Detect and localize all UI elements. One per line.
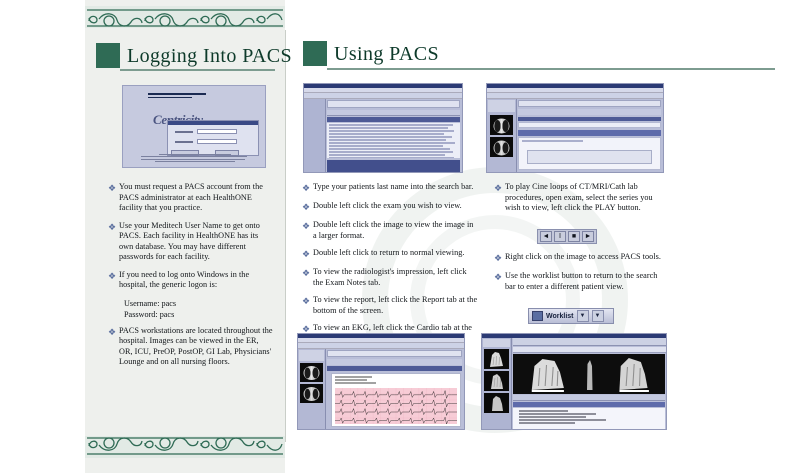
- ekg-tracing: [335, 388, 457, 424]
- list-item: ❖ You must request a PACS account from t…: [108, 182, 274, 214]
- section-header-using: Using PACS: [303, 41, 439, 66]
- page-title-logging: Logging Into PACS: [127, 46, 292, 68]
- patient-info-box: [483, 339, 510, 347]
- legal-text: [141, 154, 249, 163]
- worklist-table[interactable]: [327, 123, 460, 158]
- report-tab[interactable]: [513, 402, 665, 407]
- foot-xray-image-2[interactable]: [580, 354, 598, 394]
- username-value: Username: pacs: [124, 298, 274, 309]
- brochure-page: Logging Into PACS Centricity ❖ You must …: [0, 0, 800, 473]
- worklist-toolbar-button[interactable]: Worklist ▼ ▼: [528, 308, 614, 324]
- list-item: ❖ Double left click to return to normal …: [302, 248, 478, 260]
- diamond-bullet-icon: ❖: [494, 271, 505, 292]
- foot-xray-thumbnail[interactable]: [484, 349, 509, 369]
- chevron-down-icon[interactable]: ▼: [592, 310, 604, 322]
- viewer-toolbar[interactable]: [513, 338, 666, 346]
- previous-frame-button[interactable]: ◄: [540, 231, 552, 242]
- section-accent-square: [303, 41, 327, 66]
- diamond-bullet-icon: ❖: [108, 221, 119, 263]
- list-item: ❖ Use the worklist button to return to t…: [494, 271, 666, 292]
- list-item: ❖ PACS workstations are located througho…: [108, 326, 274, 368]
- foot-xray-thumbnail[interactable]: [484, 393, 509, 413]
- login-dialog-titlebar: [168, 121, 258, 125]
- foot-xray-screenshot: [481, 333, 667, 430]
- action-button-group[interactable]: [527, 150, 652, 164]
- worklist-icon: [532, 311, 543, 321]
- diamond-bullet-icon: ❖: [108, 270, 119, 291]
- tab-strip[interactable]: [327, 110, 460, 116]
- search-bar[interactable]: [327, 100, 460, 108]
- list-item: ❖ Double left click the image to view th…: [302, 220, 478, 241]
- stop-button[interactable]: ■: [568, 231, 580, 242]
- list-item: ❖ Right click on the image to access PAC…: [494, 252, 666, 264]
- foot-xray-image-1[interactable]: [513, 354, 580, 394]
- exam-notes-screenshot: [486, 83, 664, 173]
- username-field[interactable]: [197, 129, 237, 134]
- pause-button[interactable]: ‖: [554, 231, 566, 242]
- chest-xray-thumbnail[interactable]: [490, 115, 513, 135]
- search-bar[interactable]: [327, 350, 462, 357]
- diamond-bullet-icon: ❖: [302, 267, 313, 288]
- worklist-button-label: Worklist: [546, 313, 574, 320]
- diamond-bullet-icon: ❖: [302, 248, 313, 260]
- chevron-down-icon[interactable]: ▼: [577, 310, 589, 322]
- section-accent-square: [96, 43, 120, 68]
- password-field[interactable]: [197, 139, 237, 144]
- ge-logo: [148, 93, 214, 101]
- cine-playback-toolbar[interactable]: ◄ ‖ ■ ►: [537, 229, 597, 244]
- foot-xray-thumbnail[interactable]: [484, 371, 509, 391]
- bullet-list-using-right-2: ❖ Right click on the image to access PAC…: [494, 252, 666, 299]
- list-item: ❖ Type your patients last name into the …: [302, 182, 478, 194]
- diamond-bullet-icon: ❖: [302, 295, 313, 316]
- thumbnail-pane[interactable]: [482, 338, 512, 429]
- fold-divider: [285, 30, 286, 442]
- exam-row[interactable]: [518, 122, 661, 128]
- list-item: ❖ Double left click the exam you wish to…: [302, 201, 478, 213]
- list-item: ❖ Use your Meditech User Name to get ont…: [108, 221, 274, 263]
- diamond-bullet-icon: ❖: [302, 220, 313, 241]
- username-label: [175, 131, 193, 133]
- section-rule-using: [327, 68, 775, 70]
- password-value: Password: pacs: [124, 309, 274, 320]
- centricity-login-splash: Centricity: [122, 85, 266, 168]
- generic-logon-credentials: Username: pacs Password: pacs: [124, 298, 274, 320]
- exam-notes-tab[interactable]: [518, 130, 661, 136]
- section-rule-logging: [120, 69, 275, 71]
- play-button[interactable]: ►: [582, 231, 594, 242]
- diamond-bullet-icon: ❖: [494, 252, 505, 264]
- diamond-bullet-icon: ❖: [108, 182, 119, 214]
- thumbnail-pane[interactable]: [487, 99, 517, 172]
- foot-xray-image-3[interactable]: [598, 354, 665, 394]
- bullet-list-using-left: ❖ Type your patients last name into the …: [302, 182, 478, 351]
- section-header-logging: Logging Into PACS: [96, 43, 292, 68]
- report-pane: [513, 408, 665, 429]
- diamond-bullet-icon: ❖: [108, 326, 119, 368]
- tab-strip[interactable]: [327, 359, 462, 365]
- search-bar[interactable]: [518, 100, 661, 107]
- chest-xray-thumbnail[interactable]: [300, 384, 323, 403]
- tab-strip[interactable]: [518, 109, 661, 115]
- column-headers: [327, 117, 460, 122]
- list-item: ❖ To play Cine loops of CT/MRI/Cath lab …: [494, 182, 666, 214]
- patient-info-box: [488, 100, 515, 112]
- column-headers: [518, 117, 661, 121]
- tab-strip[interactable]: [513, 395, 665, 401]
- thumbnail-pane[interactable]: [298, 349, 326, 429]
- list-item: ❖ If you need to log onto Windows in the…: [108, 270, 274, 291]
- chest-xray-thumbnail[interactable]: [490, 137, 513, 157]
- chest-xray-thumbnail[interactable]: [300, 363, 323, 382]
- ekg-report-pane: [331, 373, 461, 427]
- diamond-bullet-icon: ❖: [302, 201, 313, 213]
- ekg-screenshot: [297, 333, 465, 430]
- page-title-using: Using PACS: [334, 44, 439, 66]
- left-nav-pane: [304, 99, 326, 172]
- worklist-screenshot: [303, 83, 463, 173]
- list-item: ❖ To view the report, left click the Rep…: [302, 295, 478, 316]
- diamond-bullet-icon: ❖: [494, 182, 505, 214]
- cardio-tab[interactable]: [327, 366, 462, 371]
- exam-notes-pane: [518, 137, 661, 170]
- diamond-bullet-icon: ❖: [302, 182, 313, 194]
- status-bar: [327, 160, 460, 172]
- viewer-subtoolbar[interactable]: [513, 347, 666, 353]
- bullet-list-logging: ❖ You must request a PACS account from t…: [108, 182, 274, 375]
- patient-info-box: [299, 350, 324, 361]
- list-item: ❖ To view the radiologist's impression, …: [302, 267, 478, 288]
- image-viewport[interactable]: [513, 354, 665, 394]
- password-label: [175, 141, 193, 143]
- bullet-list-using-right-1: ❖ To play Cine loops of CT/MRI/Cath lab …: [494, 182, 666, 221]
- toolbar: [304, 93, 462, 99]
